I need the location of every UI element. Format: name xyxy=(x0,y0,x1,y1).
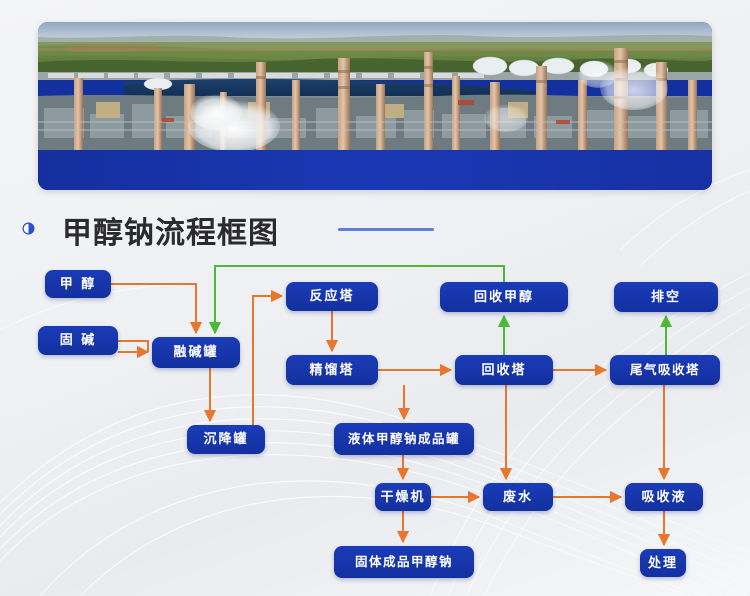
flow-node-settling-tank[interactable]: 沉降罐 xyxy=(187,425,265,454)
flow-node-tail-gas-tower[interactable]: 尾气吸收塔 xyxy=(610,355,720,385)
page-root: 甲醇钠流程框图 xyxy=(0,0,750,596)
edge-methanol-to-melt-alkali-tank xyxy=(111,284,196,333)
flow-node-solid-product[interactable]: 固体成品甲醇钠 xyxy=(334,546,474,578)
flow-node-dryer[interactable]: 干燥机 xyxy=(375,483,431,511)
flow-node-solid-alkali[interactable]: 固 碱 xyxy=(38,326,118,355)
edge-settling-tank-to-reactor-tower xyxy=(253,296,282,440)
flow-node-recovery-tower[interactable]: 回收塔 xyxy=(455,355,553,385)
flow-node-vent[interactable]: 排空 xyxy=(614,282,718,312)
edge-solid-alkali-seg xyxy=(118,341,148,352)
flow-diagram: 甲 醇 固 碱 融碱罐 反应塔 精馏塔 沉降罐 回收甲醇 回收塔 排空 尾气吸收… xyxy=(0,0,750,596)
flow-node-liquid-product-tank[interactable]: 液体甲醇钠成品罐 xyxy=(334,423,474,455)
flow-node-waste-water[interactable]: 废水 xyxy=(483,483,553,511)
flow-node-recovery-methanol[interactable]: 回收甲醇 xyxy=(440,282,568,312)
flow-node-treatment[interactable]: 处理 xyxy=(640,549,686,577)
flow-node-absorption-liquid[interactable]: 吸收液 xyxy=(625,483,703,511)
flow-node-methanol[interactable]: 甲 醇 xyxy=(45,270,111,298)
flow-node-rectify-tower[interactable]: 精馏塔 xyxy=(286,355,378,385)
flow-node-melt-alkali-tank[interactable]: 融碱罐 xyxy=(152,337,240,368)
flow-node-reactor-tower[interactable]: 反应塔 xyxy=(286,282,378,311)
